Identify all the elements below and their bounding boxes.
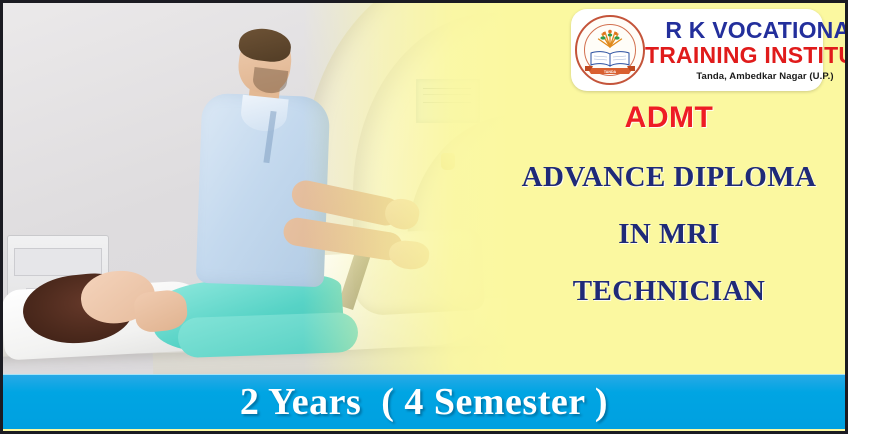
mri-indicator-lamp (441, 153, 455, 170)
institute-name-line2: TRAINING INSTITUTE (645, 44, 848, 67)
institute-address: Tanda, Ambedkar Nagar (U.P.) (645, 72, 848, 82)
institute-name-block: R K VOCATIONAL TRAINING INSTITUTE Tanda,… (645, 19, 848, 82)
seal-sunburst-icon (597, 29, 623, 49)
course-flyer: TANDA R K VOCATIONAL TRAINING INSTITUTE … (0, 0, 871, 439)
mri-photo (3, 3, 563, 381)
course-title-line2: IN MRI (493, 218, 845, 251)
patient-arm (177, 312, 358, 358)
course-info-block: ADMT ADVANCE DIPLOMA IN MRI TECHNICIAN (493, 101, 845, 308)
institute-name-line1: R K VOCATIONAL (645, 19, 848, 42)
institute-logo-panel: TANDA R K VOCATIONAL TRAINING INSTITUTE … (571, 9, 823, 91)
course-title-line1: ADVANCE DIPLOMA (493, 161, 845, 194)
mri-control-panel (416, 79, 480, 123)
course-code: ADMT (493, 101, 845, 135)
seal-ribbon-icon: TANDA (585, 65, 635, 78)
duration-banner: 2 Years ( 4 Semester ) (3, 374, 845, 429)
institute-seal-icon: TANDA (575, 15, 645, 85)
course-title-line3: TECHNICIAN (493, 275, 845, 308)
flyer-frame: TANDA R K VOCATIONAL TRAINING INSTITUTE … (0, 0, 848, 434)
duration-text: 2 Years ( 4 Semester ) (240, 380, 608, 424)
svg-text:TANDA: TANDA (604, 70, 617, 74)
